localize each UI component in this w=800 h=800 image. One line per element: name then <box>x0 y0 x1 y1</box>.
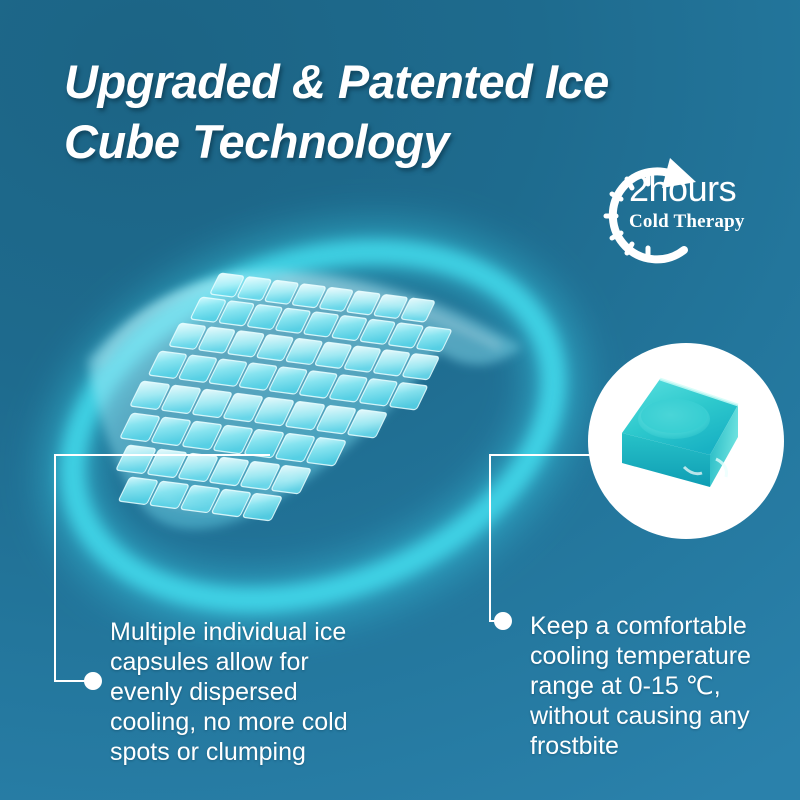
ice-cube-inset-badge <box>588 343 784 539</box>
cold-therapy-duration-badge: 2hours Cold Therapy <box>584 152 792 282</box>
caption-left: Multiple individual ice capsules allow f… <box>110 617 400 767</box>
leader-dot-left <box>84 672 102 690</box>
badge-subtitle: Cold Therapy <box>629 210 794 234</box>
flexible-ice-cube-sheet-image <box>70 255 540 555</box>
product-marketing-image: Upgraded & Patented Ice Cube Technology <box>0 0 800 800</box>
leader-dot-right <box>494 612 512 630</box>
single-gel-ice-cube-image <box>598 359 774 523</box>
badge-text-group: 2hours Cold Therapy <box>629 170 794 234</box>
page-title: Upgraded & Patented Ice Cube Technology <box>64 52 624 172</box>
badge-duration-label: 2hours <box>629 170 794 208</box>
caption-right: Keep a comfortable cooling temperature r… <box>530 611 800 761</box>
